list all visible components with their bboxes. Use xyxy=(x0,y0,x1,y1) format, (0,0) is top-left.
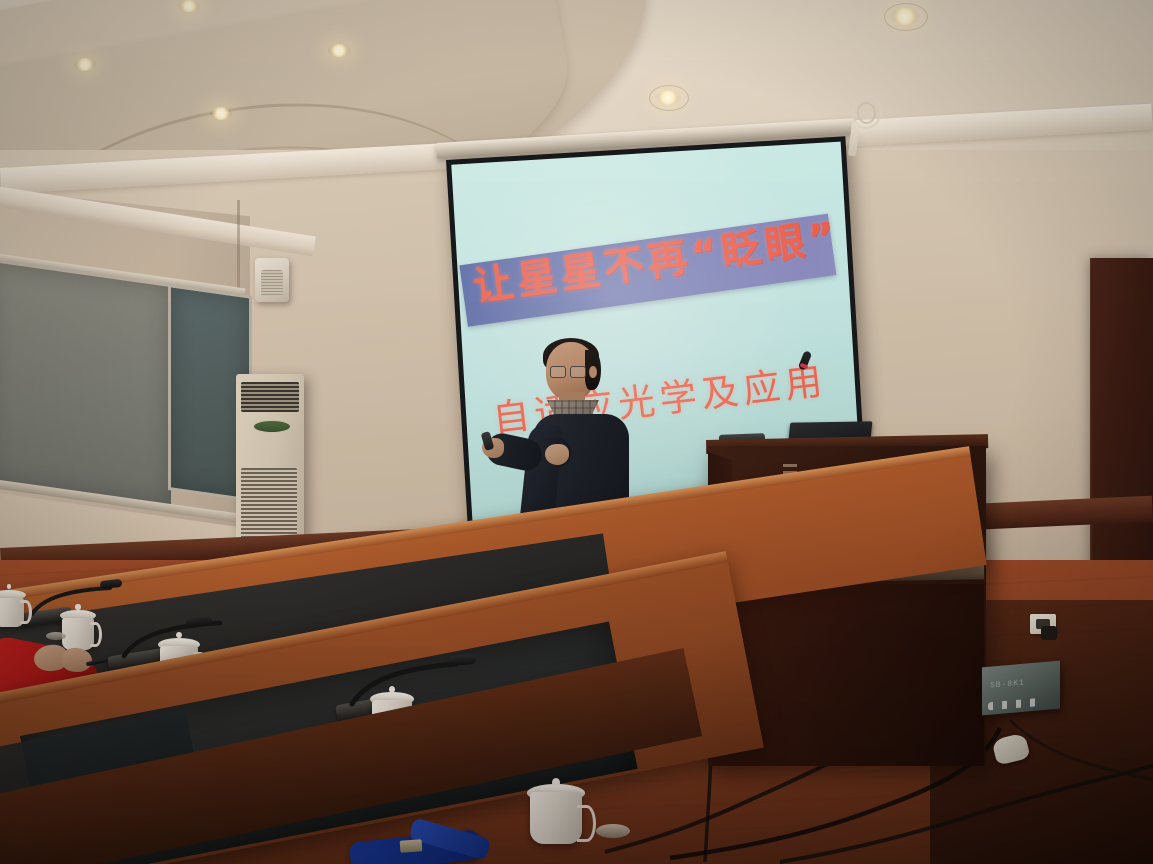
tea-cup[interactable] xyxy=(0,586,24,628)
downlight-icon xyxy=(74,58,96,71)
wall-speaker-icon xyxy=(255,258,289,302)
tea-cup[interactable] xyxy=(62,606,94,652)
coiled-cable-inner-icon xyxy=(857,102,876,124)
presenter-ear xyxy=(589,366,597,378)
tea-cup[interactable] xyxy=(530,780,582,854)
downlight-icon xyxy=(210,107,232,120)
presenter-right-hand xyxy=(545,444,569,465)
downlight-trim-icon xyxy=(884,3,928,31)
ac-top-vent xyxy=(241,382,299,412)
table-microphone-capsule xyxy=(448,654,477,666)
downlight-trim-icon xyxy=(649,85,689,111)
badge-clip-icon xyxy=(400,839,423,853)
ac-brand-badge xyxy=(253,420,291,433)
lecture-hall-photo: 让星星不再“眨眼” 自适应光学及应用 xyxy=(0,0,1153,864)
downlight-icon xyxy=(328,44,350,57)
table-coaster xyxy=(46,632,66,640)
table-coaster xyxy=(596,824,630,838)
power-plug-icon xyxy=(1041,626,1057,640)
downlight-icon xyxy=(178,0,200,12)
presenter-glasses-icon xyxy=(550,366,584,377)
chalkboard-panel-left xyxy=(0,258,174,510)
